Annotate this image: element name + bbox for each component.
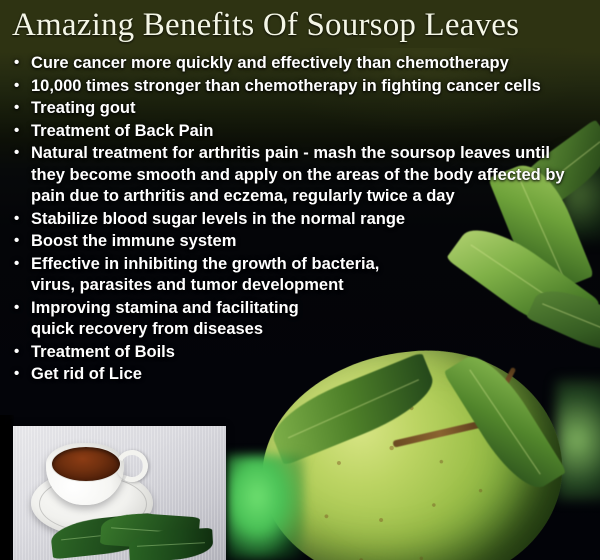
list-item: Natural treatment for arthritis pain - m… (10, 143, 571, 208)
poster-root: Amazing Benefits Of Soursop Leaves Cure … (0, 0, 600, 560)
page-title: Amazing Benefits Of Soursop Leaves (0, 0, 519, 50)
list-item: Stabilize blood sugar levels in the norm… (10, 209, 591, 231)
leaf-vein (137, 543, 204, 548)
inset-left-shadow (0, 415, 14, 560)
list-item: Boost the immune system (10, 231, 591, 253)
list-item: Treating gout (10, 98, 591, 120)
tea-liquid (51, 446, 121, 482)
background-bokeh-left-of-fruit (226, 455, 304, 560)
tea-inset-photo (13, 426, 226, 560)
header-bar: Amazing Benefits Of Soursop Leaves (0, 0, 600, 50)
list-item: 10,000 times stronger than chemotherapy … (10, 76, 591, 98)
list-item: Effective in inhibiting the growth of ba… (10, 254, 411, 297)
list-item: Get rid of Lice (10, 364, 591, 386)
list-item: Treatment of Back Pain (10, 121, 591, 143)
background-bokeh-right (556, 380, 600, 500)
list-item: Cure cancer more quickly and effectively… (10, 53, 591, 75)
list-item: Improving stamina and facilitating quick… (10, 298, 321, 341)
list-item: Treatment of Boils (10, 342, 591, 364)
benefits-list: Cure cancer more quickly and effectively… (0, 53, 600, 387)
